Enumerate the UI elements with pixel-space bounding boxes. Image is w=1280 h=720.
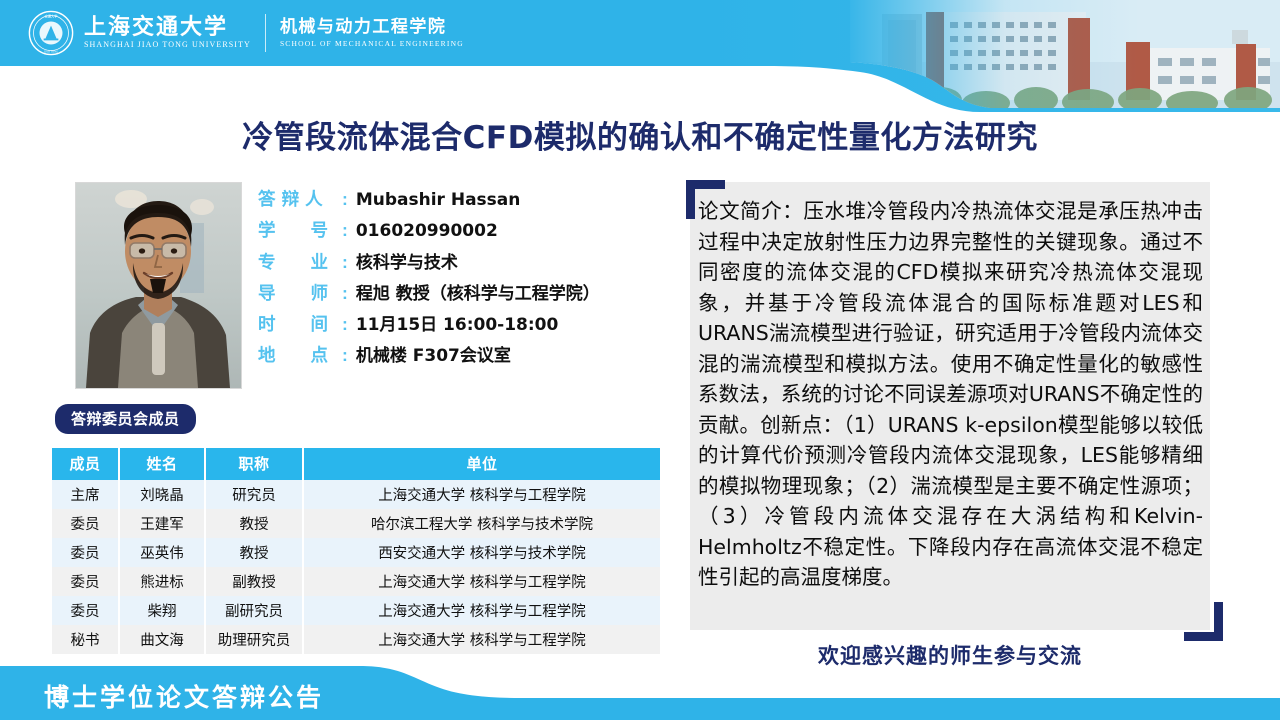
info-colon: : [342,283,348,304]
table-row: 委员 巫英伟 教授 西安交通大学 核科学与技术学院 [52,538,660,567]
info-row: 时 间 : 11月15日 16:00-18:00 [258,310,678,341]
cell-role: 委员 [52,567,119,596]
info-value: 016020990002 [356,221,498,241]
table-row: 主席 刘晓晶 研究员 上海交通大学 核科学与工程学院 [52,480,660,509]
cell-affiliation: 上海交通大学 核科学与工程学院 [303,596,660,625]
cell-name: 柴翔 [119,596,205,625]
table-row: 委员 王建军 教授 哈尔滨工程大学 核科学与技术学院 [52,509,660,538]
info-value: 机械楼 F307会议室 [356,341,511,366]
university-name-en: SHANGHAI JIAO TONG UNIVERSITY [84,39,251,51]
campus-building-photo [840,0,1280,108]
cell-affiliation: 西安交通大学 核科学与技术学院 [303,538,660,567]
cell-affiliation: 上海交通大学 核科学与工程学院 [303,567,660,596]
info-label: 学 号 [258,217,342,242]
cell-rank: 教授 [205,509,303,538]
candidate-portrait-photo [75,182,242,389]
info-value: 11月15日 16:00-18:00 [356,310,559,335]
logo-divider [265,14,266,52]
university-seal-icon: 交通大学 JIAO TONG [28,10,74,56]
info-label: 地 点 [258,342,342,367]
info-value: 程旭 教授（核科学与工程学院） [356,279,600,304]
info-row: 答 辩 人 : Mubashir Hassan [258,186,678,217]
cell-role: 委员 [52,509,119,538]
cell-rank: 副教授 [205,567,303,596]
info-row: 导 师 : 程旭 教授（核科学与工程学院） [258,279,678,310]
committee-section-badge: 答辩委员会成员 [55,404,196,434]
cell-affiliation: 上海交通大学 核科学与工程学院 [303,625,660,654]
info-value: Mubashir Hassan [356,190,521,210]
page-title: 冷管段流体混合CFD模拟的确认和不确定性量化方法研究 [0,112,1280,157]
info-colon: : [342,189,348,210]
table-row: 委员 熊进标 副教授 上海交通大学 核科学与工程学院 [52,567,660,596]
info-colon: : [342,252,348,273]
cell-name: 巫英伟 [119,538,205,567]
table-row: 委员 柴翔 副研究员 上海交通大学 核科学与工程学院 [52,596,660,625]
cell-name: 王建军 [119,509,205,538]
school-name-en: SCHOOL OF MECHANICAL ENGINEERING [280,38,464,49]
table-header-row: 成员 姓名 职称 单位 [52,448,660,480]
cell-affiliation: 上海交通大学 核科学与工程学院 [303,480,660,509]
corner-bracket-bottom-right-icon [1184,602,1223,641]
info-colon: : [342,220,348,241]
cell-role: 委员 [52,596,119,625]
cell-name: 熊进标 [119,567,205,596]
info-label: 时 间 [258,311,342,336]
cell-rank: 助理研究员 [205,625,303,654]
svg-text:JIAO TONG: JIAO TONG [44,50,58,53]
university-logo-row: 交通大学 JIAO TONG 上海交通大学 SHANGHAI JIAO TONG… [28,6,464,60]
info-label: 专 业 [258,249,342,274]
defense-info-list: 答 辩 人 : Mubashir Hassan 学 号 : 0160209900… [258,186,678,372]
table-row: 秘书 曲文海 助理研究员 上海交通大学 核科学与工程学院 [52,625,660,654]
university-name-cn: 上海交通大学 [84,15,251,39]
cell-name: 刘晓晶 [119,480,205,509]
column-header-affiliation: 单位 [303,448,660,480]
cell-role: 委员 [52,538,119,567]
cell-role: 主席 [52,480,119,509]
info-row: 学 号 : 016020990002 [258,217,678,248]
committee-table: 成员 姓名 职称 单位 主席 刘晓晶 研究员 上海交通大学 核科学与工程学院 委… [52,448,660,654]
info-row: 地 点 : 机械楼 F307会议室 [258,341,678,372]
cell-affiliation: 哈尔滨工程大学 核科学与技术学院 [303,509,660,538]
cell-rank: 研究员 [205,480,303,509]
info-colon: : [342,314,348,335]
school-name-cn: 机械与动力工程学院 [280,17,464,38]
info-label: 导 师 [258,280,342,305]
column-header-role: 成员 [52,448,119,480]
svg-text:交通大学: 交通大学 [45,13,59,18]
info-row: 专 业 : 核科学与技术 [258,248,678,279]
footer-title: 博士学位论文答辩公告 [44,678,324,714]
cell-role: 秘书 [52,625,119,654]
abstract-text: 论文简介：压水堆冷管段内冷热流体交混是承压热冲击过程中决定放射性压力边界完整性的… [698,196,1203,593]
column-header-rank: 职称 [205,448,303,480]
column-header-name: 姓名 [119,448,205,480]
cell-rank: 教授 [205,538,303,567]
info-colon: : [342,345,348,366]
cell-rank: 副研究员 [205,596,303,625]
info-value: 核科学与技术 [356,248,458,273]
cell-name: 曲文海 [119,625,205,654]
info-label: 答 辩 人 [258,186,342,211]
